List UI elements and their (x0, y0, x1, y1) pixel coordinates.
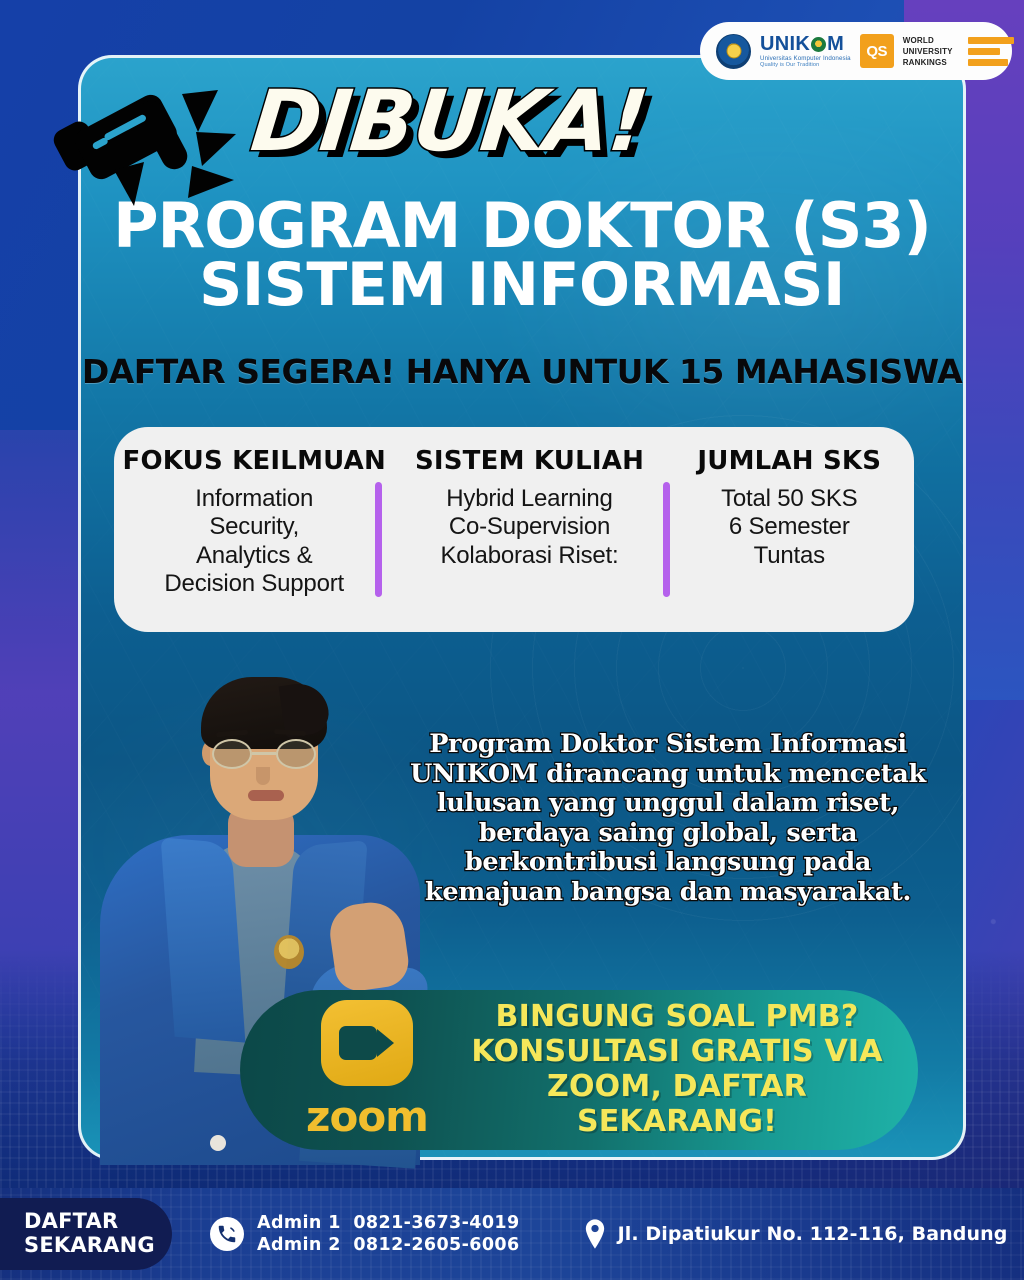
info-card-divider-2 (663, 482, 670, 597)
photo-nose (256, 767, 270, 785)
qs-bar-3 (968, 59, 1008, 66)
zoom-cta-text: BINGUNG SOAL PMB? KONSULTASI GRATIS VIA … (462, 1000, 918, 1139)
photo-lapel-left (161, 837, 246, 1042)
info-card-title: JUMLAH SKS (697, 447, 881, 475)
admin-2-label: Admin 2 (257, 1235, 341, 1255)
zoom-logo: zoom (272, 995, 462, 1145)
unikom-tagline-2: Quality is Our Tradition (760, 63, 851, 69)
info-card-fokus-keilmuan: FOKUS KEILMUAN Information Security, Ana… (114, 427, 394, 632)
qs-bar-2 (968, 48, 1000, 55)
info-card-title: SISTEM KULIAH (415, 447, 644, 475)
footer-bar: DAFTAR SEKARANG Admin 1 0821-3673-4019 A… (0, 1188, 1024, 1280)
footer-address: Jl. Dipatiukur No. 112-116, Bandung (584, 1219, 1008, 1249)
qs-line-rankings: RANKINGS (903, 58, 963, 67)
glasses-lens-left (212, 739, 252, 769)
admin-2-number[interactable]: 0812-2605-6006 (353, 1235, 519, 1255)
subtitle: DAFTAR SEGERA! HANYA UNTUK 15 MAHASISWA (78, 352, 966, 391)
info-card-jumlah-sks: JUMLAH SKS Total 50 SKS 6 Semester Tunta… (665, 427, 914, 632)
admin-row-2: Admin 2 0812-2605-6006 (257, 1235, 520, 1255)
megaphone-icon (22, 88, 257, 208)
logo-strip: UNIKM Universitas Komputer Indonesia Qua… (700, 22, 1012, 80)
photo-lapel-badge (274, 935, 304, 969)
daftar-badge-line-1: DAFTAR (24, 1210, 172, 1234)
admin-1-label: Admin 1 (257, 1213, 341, 1233)
description-paragraph: Program Doktor Sistem Informasi UNIKOM d… (408, 730, 928, 907)
info-card-body: Information Security, Analytics & Decisi… (164, 485, 344, 598)
qs-line-world: WORLD (903, 36, 963, 45)
qs-bar-1 (968, 37, 1014, 44)
glasses-bridge (252, 752, 276, 755)
zoom-consultation-cta[interactable]: zoom BINGUNG SOAL PMB? KONSULTASI GRATIS… (240, 990, 918, 1150)
admin-row-1: Admin 1 0821-3673-4019 (257, 1213, 520, 1233)
daftar-badge-line-2: SEKARANG (24, 1234, 172, 1258)
glasses-icon (212, 739, 316, 769)
unikom-o-emblem-icon (811, 37, 826, 52)
photo-button (210, 1135, 226, 1151)
unikom-wordmark: UNIKM Universitas Komputer Indonesia Qua… (760, 34, 851, 69)
map-pin-icon (584, 1219, 606, 1249)
poster-root: UNIKM Universitas Komputer Indonesia Qua… (0, 0, 1024, 1280)
glasses-lens-right (276, 739, 316, 769)
qs-rankings-label: WORLD UNIVERSITY RANKINGS (903, 36, 1014, 67)
eyebrow-dibuka: DIBUKA! (247, 72, 652, 170)
info-card-panel: FOKUS KEILMUAN Information Security, Ana… (114, 427, 914, 632)
page-title: PROGRAM DOKTOR (S3) SISTEM INFORMASI (78, 196, 966, 315)
title-line-2: SISTEM INFORMASI (78, 255, 966, 315)
photo-mouth (248, 790, 284, 801)
unikom-tagline-1: Universitas Komputer Indonesia (760, 56, 851, 62)
footer-contacts: Admin 1 0821-3673-4019 Admin 2 0812-2605… (210, 1213, 520, 1255)
info-card-body: Total 50 SKS 6 Semester Tuntas (721, 485, 857, 570)
qs-line-university: UNIVERSITY (903, 47, 963, 56)
daftar-sekarang-badge[interactable]: DAFTAR SEKARANG (0, 1198, 172, 1270)
zoom-camera-icon (321, 1000, 413, 1086)
info-card-sistem-kuliah: SISTEM KULIAH Hybrid Learning Co-Supervi… (394, 427, 664, 632)
qs-mark: QS (860, 34, 894, 68)
unikom-name: UNIKM (760, 34, 851, 54)
phone-call-icon (210, 1217, 244, 1251)
admin-numbers: Admin 1 0821-3673-4019 Admin 2 0812-2605… (257, 1213, 520, 1255)
zoom-wordmark: zoom (306, 1092, 428, 1141)
info-card-title: FOKUS KEILMUAN (122, 447, 385, 475)
info-card-body: Hybrid Learning Co-Supervision Kolaboras… (440, 485, 618, 570)
info-card-divider-1 (375, 482, 382, 597)
unikom-seal-icon (716, 34, 751, 69)
admin-1-number[interactable]: 0821-3673-4019 (353, 1213, 519, 1233)
address-text: Jl. Dipatiukur No. 112-116, Bandung (618, 1223, 1008, 1245)
